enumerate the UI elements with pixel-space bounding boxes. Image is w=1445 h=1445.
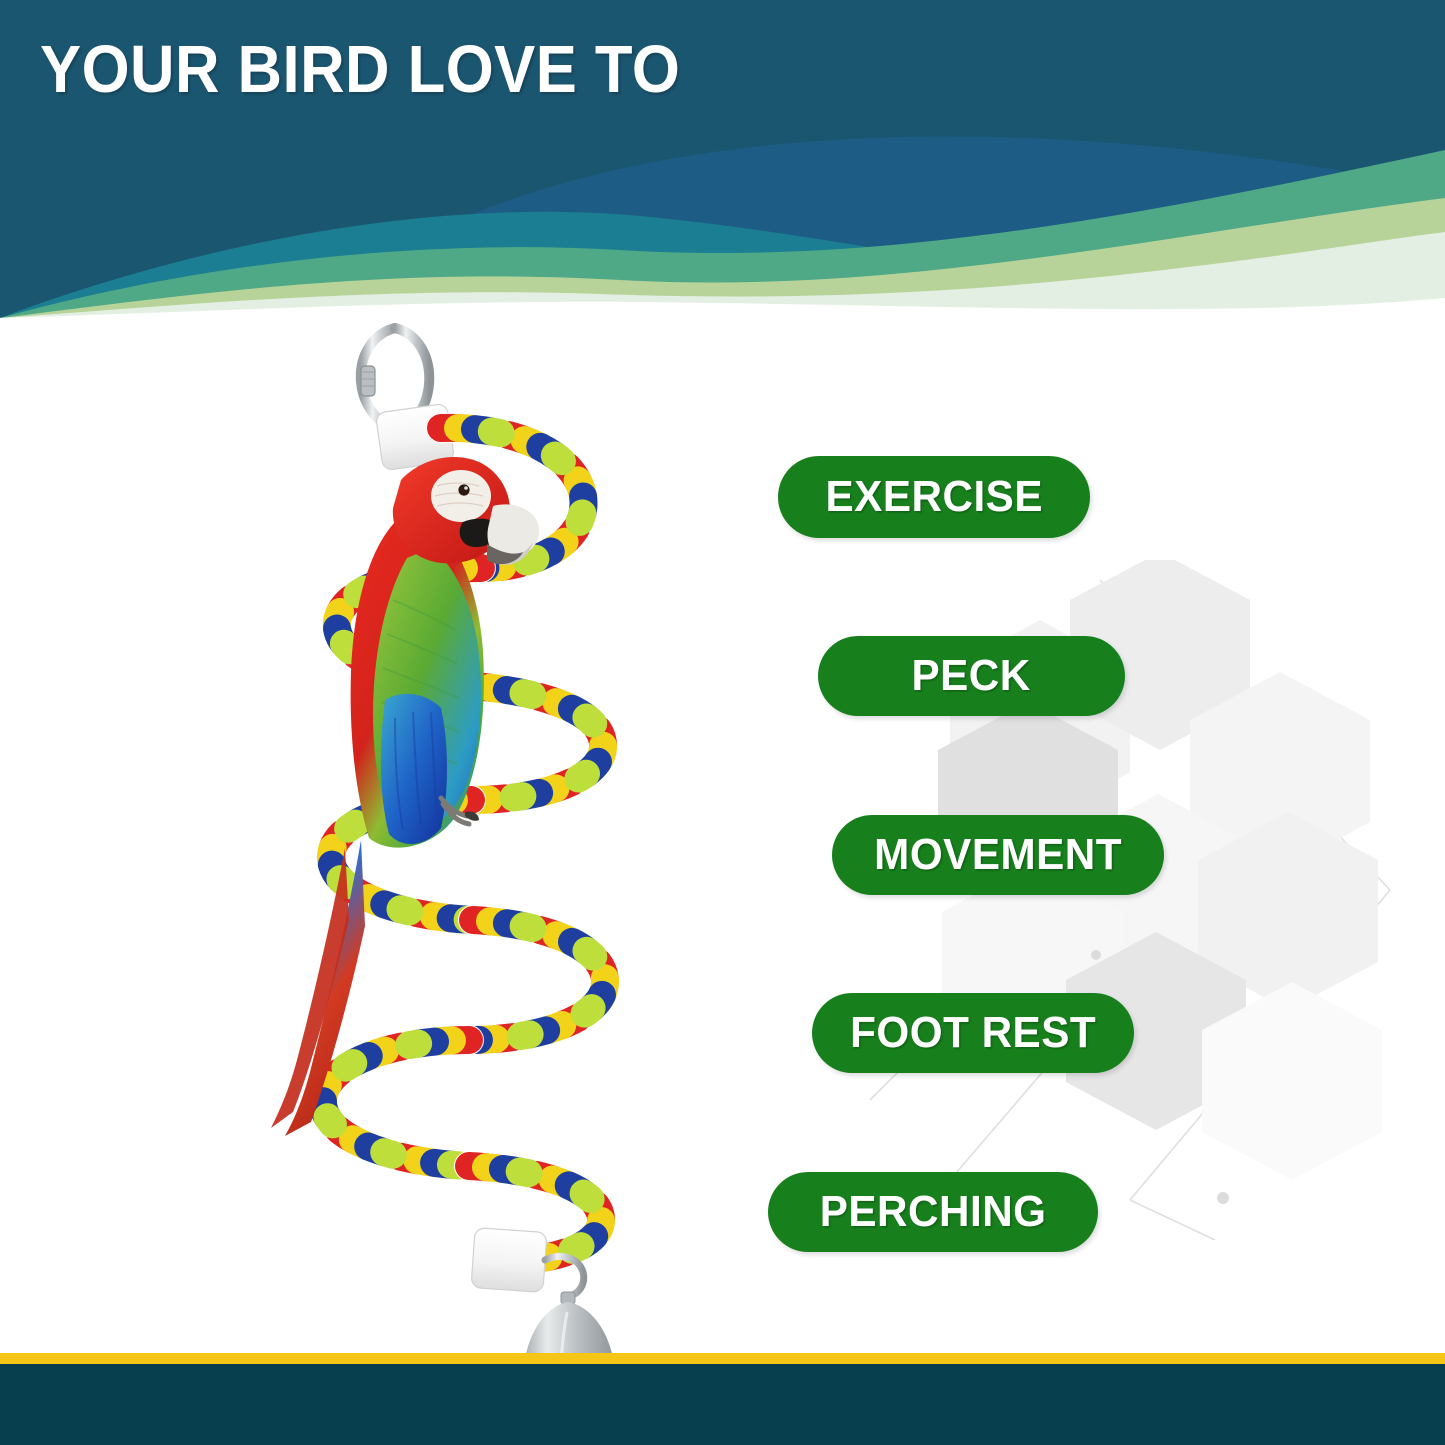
feature-badge-perching[interactable]: PERCHING [768, 1172, 1098, 1252]
feature-badge-movement[interactable]: MOVEMENT [832, 815, 1164, 895]
feature-badge-foot-rest[interactable]: FOOT REST [812, 993, 1134, 1073]
feature-badge-label: PERCHING [820, 1187, 1047, 1237]
footer-bar [0, 1353, 1445, 1445]
feature-badge-label: FOOT REST [850, 1008, 1096, 1058]
infographic-page: YOUR BIRD LOVE TO [0, 0, 1445, 1445]
product-image [245, 300, 715, 1360]
footer-gold-stripe [0, 1353, 1445, 1364]
footer-dark-band [0, 1364, 1445, 1445]
feature-badge-label: PECK [912, 651, 1031, 701]
feature-badge-label: MOVEMENT [874, 830, 1122, 880]
bottom-plastic-cap [471, 1228, 547, 1293]
feature-badge-exercise[interactable]: EXERCISE [778, 456, 1090, 538]
feature-badge-peck[interactable]: PECK [818, 636, 1125, 716]
header-banner: YOUR BIRD LOVE TO [0, 0, 1445, 318]
feature-badge-label: EXERCISE [825, 472, 1042, 522]
page-title: YOUR BIRD LOVE TO [40, 36, 680, 103]
